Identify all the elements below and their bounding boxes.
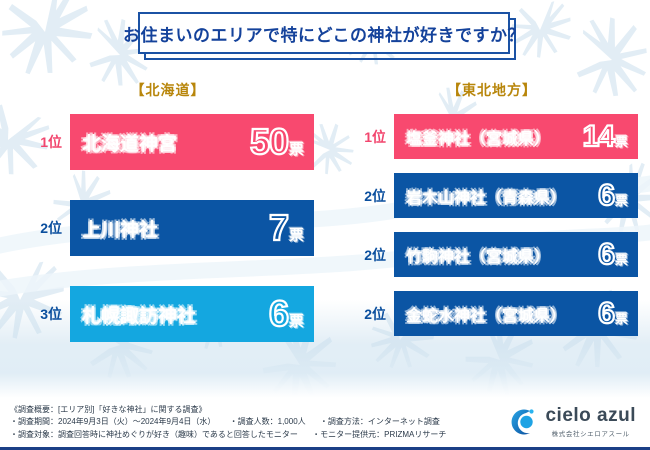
vote-number: 6 (598, 299, 614, 329)
survey-line-2: ・調査対象：調査回答時に神社めぐりが好き（趣味）であると回答したモニター ・モニ… (10, 429, 458, 441)
ranking-list-hokkaido: 1位 北海道神宮 50 票 2位 上川神社 7 票 (22, 114, 314, 342)
vote-number: 6 (598, 181, 614, 211)
company-logo[interactable]: cielo azul 株式会社シエロアスール (504, 405, 636, 439)
survey-provider: ・モニター提供元：PRIZMAリサーチ (312, 430, 446, 439)
vote-count: 6 票 (598, 181, 628, 211)
region-header-tohoku: 【東北地方】 (346, 80, 638, 100)
vote-unit: 票 (615, 253, 628, 266)
vote-unit: 票 (289, 314, 304, 329)
rank-label: 1位 (346, 127, 394, 147)
ranking-row[interactable]: 2位 岩木山神社（青森県） 6 票 (346, 173, 638, 218)
page-title: お住まいのエリアで特にどこの神社が好きですか？ (123, 21, 525, 46)
rank-label: 3位 (22, 304, 70, 324)
ranking-row[interactable]: 3位 札幌諏訪神社 6 票 (22, 286, 314, 342)
vote-count: 14 票 (583, 122, 628, 152)
vote-count: 6 票 (598, 240, 628, 270)
rank-label: 2位 (346, 186, 394, 206)
shrine-name: 金蛇水神社（宮城県） (406, 302, 566, 326)
vote-number: 50 (250, 124, 288, 160)
ranking-bar[interactable]: 上川神社 7 票 (70, 200, 314, 256)
title-banner: お住まいのエリアで特にどこの神社が好きですか？ (138, 12, 512, 56)
ranking-bar[interactable]: 塩釜神社（宮城県） 14 票 (394, 114, 638, 159)
shrine-name: 札幌諏訪神社 (82, 301, 196, 328)
ranking-bar[interactable]: 竹駒神社（宮城県） 6 票 (394, 232, 638, 277)
rank-label: 1位 (22, 132, 70, 152)
vote-number: 14 (583, 122, 614, 152)
survey-period: ・調査期間：2024年9月3日（火）～2024年9月4日（水） (10, 417, 215, 426)
vote-unit: 票 (615, 312, 628, 325)
region-column-hokkaido: 【北海道】 1位 北海道神宮 50 票 2位 上川神社 7 (22, 80, 314, 372)
vote-number: 7 (269, 210, 288, 246)
rank-label: 2位 (346, 304, 394, 324)
logo-subtitle: 株式会社シエロアスール (545, 428, 636, 438)
survey-count: ・調査人数：1,000人 (230, 417, 306, 426)
ranking-bar[interactable]: 北海道神宮 50 票 (70, 114, 314, 170)
survey-target: ・調査対象：調査回答時に神社めぐりが好き（趣味）であると回答したモニター (10, 430, 298, 439)
ranking-row[interactable]: 2位 竹駒神社（宮城県） 6 票 (346, 232, 638, 277)
ranking-row[interactable]: 1位 塩釜神社（宮城県） 14 票 (346, 114, 638, 159)
survey-overview: 《調査概要：[エリア別]「好きな神社」に関する調査》 (10, 404, 458, 416)
ranking-row[interactable]: 2位 上川神社 7 票 (22, 200, 314, 256)
logo-text-block: cielo azul 株式会社シエロアスール (545, 406, 636, 438)
logo-name: cielo azul (545, 406, 636, 425)
ranking-list-tohoku: 1位 塩釜神社（宮城県） 14 票 2位 岩木山神社（青森県） 6 票 (346, 114, 638, 336)
vote-count: 6 票 (598, 299, 628, 329)
vote-count: 50 票 (250, 124, 304, 160)
survey-line-1: ・調査期間：2024年9月3日（火）～2024年9月4日（水） ・調査人数：1,… (10, 416, 458, 428)
vote-unit: 票 (615, 135, 628, 148)
shrine-name: 岩木山神社（青森県） (406, 184, 566, 208)
shrine-name: 上川神社 (82, 215, 158, 242)
vote-count: 6 票 (269, 296, 304, 332)
ranking-bar[interactable]: 札幌諏訪神社 6 票 (70, 286, 314, 342)
cielo-azul-mark-icon (504, 405, 538, 439)
vote-unit: 票 (615, 194, 628, 207)
vote-number: 6 (269, 296, 288, 332)
vote-number: 6 (598, 240, 614, 270)
survey-method: ・調査方法：インターネット調査 (320, 417, 440, 426)
region-column-tohoku: 【東北地方】 1位 塩釜神社（宮城県） 14 票 2位 岩木山神社（青森県） 6 (346, 80, 638, 350)
survey-notes: 《調査概要：[エリア別]「好きな神社」に関する調査》 ・調査期間：2024年9月… (10, 404, 458, 441)
footer: 《調査概要：[エリア別]「好きな神社」に関する調査》 ・調査期間：2024年9月… (0, 398, 650, 450)
infographic-root: お住まいのエリアで特にどこの神社が好きですか？ 【北海道】 1位 北海道神宮 5… (0, 0, 650, 450)
vote-count: 7 票 (269, 210, 304, 246)
ranking-bar[interactable]: 金蛇水神社（宮城県） 6 票 (394, 291, 638, 336)
shrine-name: 北海道神宮 (82, 129, 177, 156)
rank-label: 2位 (346, 245, 394, 265)
ranking-row[interactable]: 2位 金蛇水神社（宮城県） 6 票 (346, 291, 638, 336)
ranking-row[interactable]: 1位 北海道神宮 50 票 (22, 114, 314, 170)
region-header-hokkaido: 【北海道】 (22, 80, 314, 100)
shrine-name: 塩釜神社（宮城県） (406, 125, 550, 149)
ranking-bar[interactable]: 岩木山神社（青森県） 6 票 (394, 173, 638, 218)
shrine-name: 竹駒神社（宮城県） (406, 243, 550, 267)
rank-label: 2位 (22, 218, 70, 238)
vote-unit: 票 (289, 142, 304, 157)
vote-unit: 票 (289, 228, 304, 243)
title-banner-box: お住まいのエリアで特にどこの神社が好きですか？ (138, 12, 510, 54)
